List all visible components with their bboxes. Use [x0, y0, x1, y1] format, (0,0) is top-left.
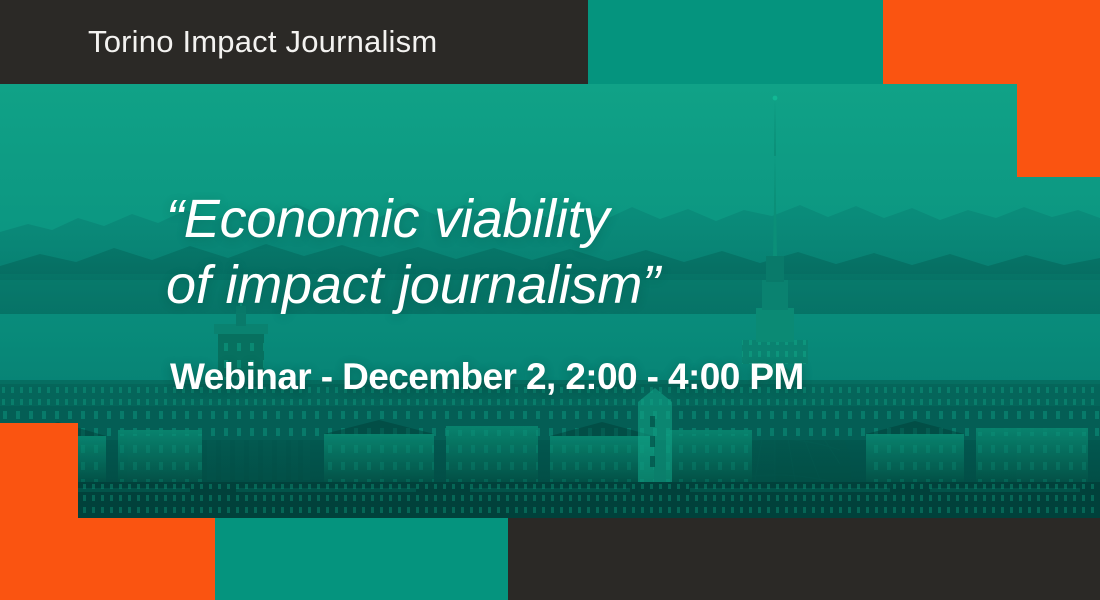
page-title: Torino Impact Journalism — [88, 24, 437, 60]
decorative-orange-block-right — [1017, 84, 1100, 177]
turin-skyline-photo — [0, 84, 1100, 518]
decorative-orange-block-left-upper — [0, 423, 78, 518]
decorative-orange-block-left-lower — [0, 518, 215, 600]
footer-bar — [508, 518, 1100, 600]
decorative-teal-block-bottom — [215, 518, 508, 600]
decorative-teal-block-top — [588, 0, 883, 84]
webinar-promo-poster: Torino Impact Journalism “Economic viabi… — [0, 0, 1100, 600]
header-bar: Torino Impact Journalism — [0, 0, 588, 84]
decorative-orange-block-top — [883, 0, 1100, 84]
